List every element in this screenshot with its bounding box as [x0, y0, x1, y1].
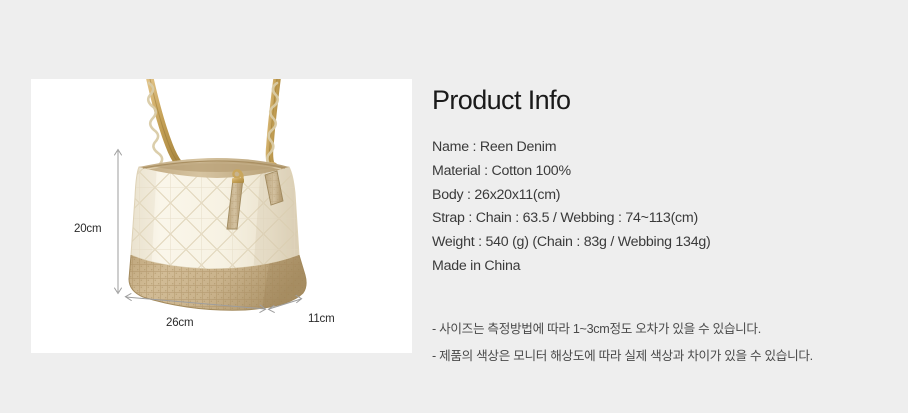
product-spec-list: Name : Reen Denim Material : Cotton 100%…	[432, 136, 887, 279]
spec-row-weight: Weight : 540 (g) (Chain : 83g / Webbing …	[432, 231, 887, 255]
product-note-list: - 사이즈는 측정방법에 따라 1~3cm정도 오차가 있을 수 있습니다. -…	[432, 316, 813, 370]
product-info-title: Product Info	[432, 79, 887, 114]
spec-row-material: Material : Cotton 100%	[432, 160, 887, 184]
bag-body	[127, 158, 307, 275]
bag-illustration	[31, 79, 412, 353]
spec-row-origin: Made in China	[432, 255, 887, 279]
note-color-variance: - 제품의 색상은 모니터 해상도에 따라 실제 색상과 차이가 있을 수 있습…	[432, 343, 813, 370]
spec-row-body: Body : 26x20x11(cm)	[432, 184, 887, 208]
spec-row-strap: Strap : Chain : 63.5 / Webbing : 74~113(…	[432, 207, 887, 231]
note-size-tolerance: - 사이즈는 측정방법에 따라 1~3cm정도 오차가 있을 수 있습니다.	[432, 316, 813, 343]
spec-row-name: Name : Reen Denim	[432, 136, 887, 160]
product-photo-panel: 20cm 26cm 11cm	[31, 79, 412, 353]
dimension-label-depth: 11cm	[308, 313, 334, 325]
product-info-panel: Product Info Name : Reen Denim Material …	[432, 79, 887, 359]
dimension-label-width: 26cm	[166, 317, 193, 329]
dimension-label-height: 20cm	[74, 223, 101, 235]
